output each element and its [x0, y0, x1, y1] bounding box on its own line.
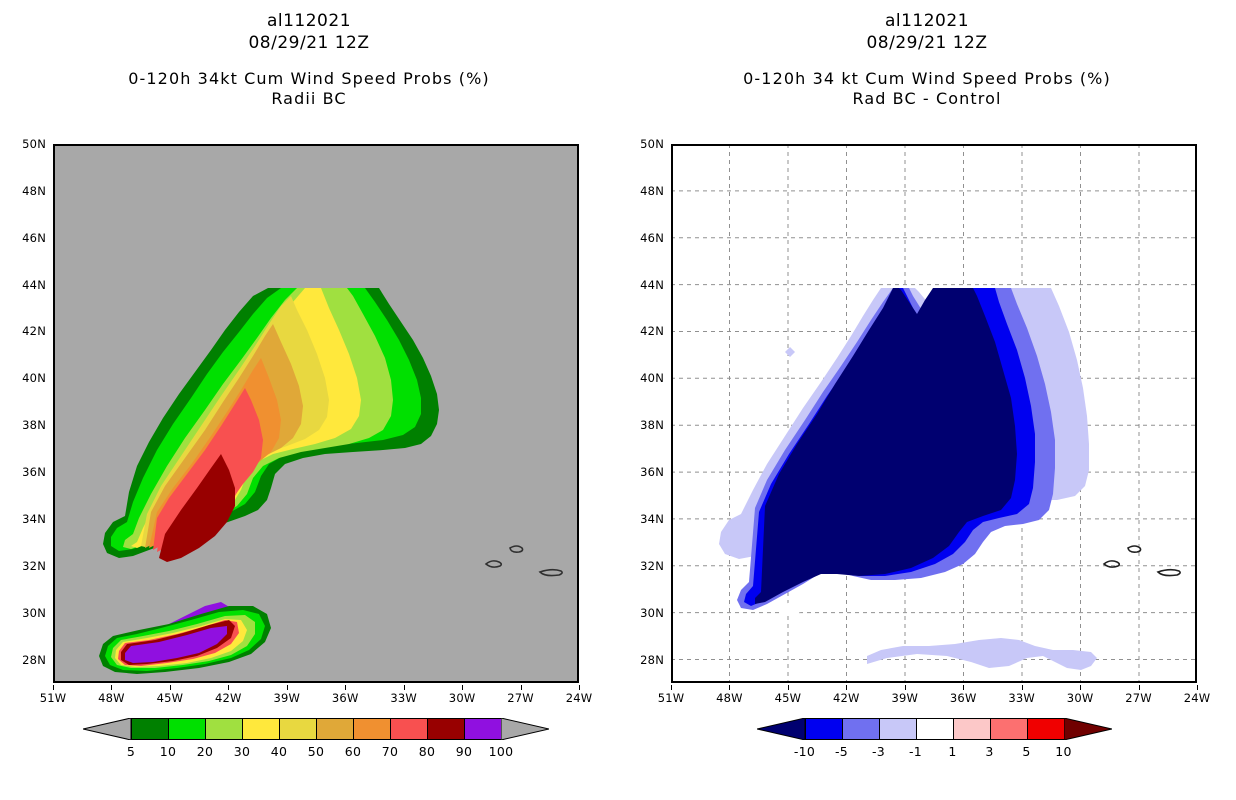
- x-axis-tick: [1022, 685, 1023, 690]
- x-axis-label: 48W: [91, 691, 131, 705]
- y-axis-label: 40N: [6, 371, 46, 385]
- y-axis-label: 44N: [6, 278, 46, 292]
- y-axis-label: 38N: [624, 418, 664, 432]
- y-axis-label: 30N: [6, 606, 46, 620]
- colorbar-band: [916, 718, 953, 740]
- colorbar-band: [879, 718, 916, 740]
- colorbar-tick-label: -3: [872, 744, 885, 759]
- y-axis-label: 50N: [624, 137, 664, 151]
- plot-border-left: [53, 144, 579, 683]
- panel-rad-bc-control: al112021 08/29/21 12Z 0-120h 34 kt Cum W…: [618, 0, 1236, 800]
- colorbar-tick-label: 80: [419, 744, 436, 759]
- forecast-datetime: 08/29/21 12Z: [0, 33, 618, 55]
- x-axis-tick: [846, 685, 847, 690]
- y-axis-label: 32N: [624, 559, 664, 573]
- x-axis-tick: [963, 685, 964, 690]
- x-axis-tick: [1139, 685, 1140, 690]
- colorbar-tick-label: 90: [456, 744, 473, 759]
- colorbar-tick-label: -10: [794, 744, 815, 759]
- x-axis-tick: [404, 685, 405, 690]
- x-axis-label: 42W: [208, 691, 248, 705]
- y-axis-label: 32N: [6, 559, 46, 573]
- x-axis-label: 42W: [826, 691, 866, 705]
- chart-subtitle: Radii BC: [0, 89, 618, 110]
- colorbar-tick-label: -5: [835, 744, 848, 759]
- y-axis-label: 48N: [6, 184, 46, 198]
- colorbar-band: [953, 718, 990, 740]
- y-axis-label: 40N: [624, 371, 664, 385]
- x-axis-tick: [345, 685, 346, 690]
- x-axis-tick: [170, 685, 171, 690]
- colorbar-arrow-high: [1064, 718, 1112, 740]
- x-axis-tick: [1197, 685, 1198, 690]
- y-axis-label: 30N: [624, 606, 664, 620]
- storm-id: al112021: [618, 11, 1236, 33]
- colorbar: [0, 718, 1236, 740]
- y-axis-label: 50N: [6, 137, 46, 151]
- y-axis-label: 36N: [624, 465, 664, 479]
- colorbar-tick-label: 5: [1022, 744, 1030, 759]
- storm-id: al112021: [0, 11, 618, 33]
- x-axis-tick: [287, 685, 288, 690]
- colorbar-tick-label: 5: [127, 744, 135, 759]
- y-axis-label: 42N: [6, 324, 46, 338]
- colorbar-tick-label: 60: [345, 744, 362, 759]
- colorbar-tick-label: 50: [308, 744, 325, 759]
- chart-title: 0-120h 34 kt Cum Wind Speed Probs (%): [618, 69, 1236, 90]
- y-axis-label: 28N: [6, 653, 46, 667]
- right-panel-titles: al112021 08/29/21 12Z 0-120h 34 kt Cum W…: [618, 0, 1236, 110]
- colorbar-tick-label: 10: [1055, 744, 1072, 759]
- x-axis-label: 30W: [1060, 691, 1100, 705]
- y-axis-label: 42N: [624, 324, 664, 338]
- plot-border-right: [671, 144, 1197, 683]
- forecast-datetime: 08/29/21 12Z: [618, 33, 1236, 55]
- colorbar-tick-label: 100: [489, 744, 514, 759]
- x-axis-label: 39W: [885, 691, 925, 705]
- x-axis-label: 24W: [1177, 691, 1217, 705]
- y-axis-label: 34N: [624, 512, 664, 526]
- colorbar-tick-label: 30: [234, 744, 251, 759]
- x-axis-tick: [462, 685, 463, 690]
- y-axis-label: 44N: [624, 278, 664, 292]
- colorbar-band: [1027, 718, 1064, 740]
- y-axis-label: 48N: [624, 184, 664, 198]
- x-axis-label: 45W: [150, 691, 190, 705]
- plot-area-right: [671, 144, 1197, 683]
- colorbar-tick-label: 3: [985, 744, 993, 759]
- y-axis-label: 46N: [6, 231, 46, 245]
- y-axis-label: 36N: [6, 465, 46, 479]
- y-axis-label: 46N: [624, 231, 664, 245]
- x-axis-tick: [788, 685, 789, 690]
- panel-radii-bc: al112021 08/29/21 12Z 0-120h 34kt Cum Wi…: [0, 0, 618, 800]
- y-axis-label: 34N: [6, 512, 46, 526]
- x-axis-tick: [521, 685, 522, 690]
- x-axis-label: 24W: [559, 691, 599, 705]
- x-axis-tick: [671, 685, 672, 690]
- x-axis-tick: [729, 685, 730, 690]
- colorbar-band: [805, 718, 842, 740]
- x-axis-label: 48W: [709, 691, 749, 705]
- colorbar-tick-label: 1: [948, 744, 956, 759]
- x-axis-label: 36W: [943, 691, 983, 705]
- x-axis-tick: [111, 685, 112, 690]
- y-axis-label: 28N: [624, 653, 664, 667]
- y-axis-label: 38N: [6, 418, 46, 432]
- left-panel-titles: al112021 08/29/21 12Z 0-120h 34kt Cum Wi…: [0, 0, 618, 110]
- colorbar-band: [842, 718, 879, 740]
- x-axis-tick: [905, 685, 906, 690]
- x-axis-tick: [228, 685, 229, 690]
- x-axis-label: 33W: [1002, 691, 1042, 705]
- x-axis-label: 33W: [384, 691, 424, 705]
- x-axis-label: 45W: [768, 691, 808, 705]
- colorbar-arrow-low: [757, 718, 805, 740]
- chart-title: 0-120h 34kt Cum Wind Speed Probs (%): [0, 69, 618, 90]
- x-axis-label: 51W: [33, 691, 73, 705]
- colorbar-tick-label: 40: [271, 744, 288, 759]
- x-axis-label: 27W: [501, 691, 541, 705]
- x-axis-tick: [53, 685, 54, 690]
- x-axis-tick: [1080, 685, 1081, 690]
- x-axis-label: 51W: [651, 691, 691, 705]
- colorbar-tick-label: 20: [197, 744, 214, 759]
- colorbar-tick-label: -1: [909, 744, 922, 759]
- chart-page: al112021 08/29/21 12Z 0-120h 34kt Cum Wi…: [0, 0, 1236, 800]
- x-axis-label: 30W: [442, 691, 482, 705]
- colorbar-tick-label: 10: [160, 744, 177, 759]
- colorbar-tick-label: 70: [382, 744, 399, 759]
- x-axis-label: 39W: [267, 691, 307, 705]
- x-axis-label: 36W: [325, 691, 365, 705]
- plot-area-left: [53, 144, 579, 683]
- chart-subtitle: Rad BC - Control: [618, 89, 1236, 110]
- x-axis-label: 27W: [1119, 691, 1159, 705]
- colorbar-band: [990, 718, 1027, 740]
- x-axis-tick: [579, 685, 580, 690]
